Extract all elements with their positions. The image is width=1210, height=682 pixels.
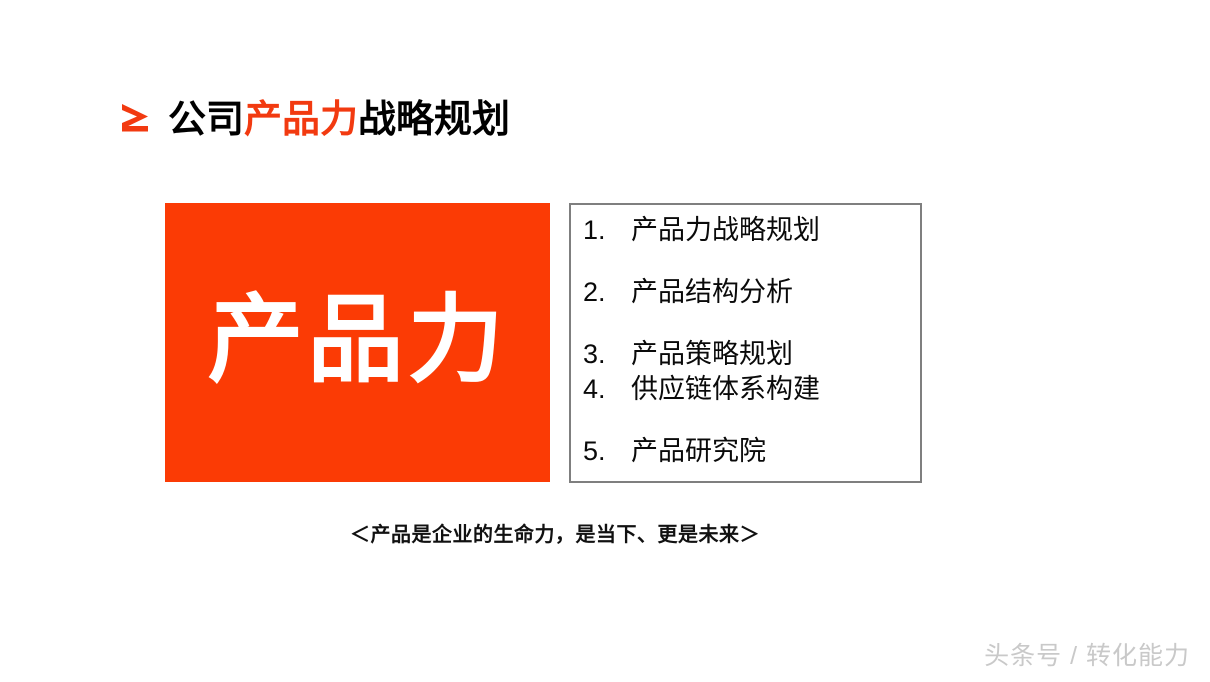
list-item-number: 1. [583,213,631,247]
presentation-slide: 公司产品力战略规划 产品力 1. 产品力战略规划 2. 产品结构分析 3. 产品… [0,0,1210,682]
watermark: 头条号 / 转化能力 [984,636,1190,672]
list-item[interactable]: 2. 产品结构分析 [583,275,914,309]
list-item-label: 供应链体系构建 [631,372,914,406]
list-item-number: 5. [583,434,631,468]
list-item[interactable]: 3. 产品策略规划 [583,337,914,371]
title-highlight: 产品力 [244,99,358,141]
list-item-number: 4. [583,372,631,406]
double-chevron-right-icon [118,99,162,141]
list-item-label: 产品结构分析 [631,275,914,309]
list-item-label: 产品策略规划 [631,337,914,371]
slide-caption: ＜产品是企业的生命力，是当下、更是未来＞ [0,518,1160,547]
list-item[interactable]: 5. 产品研究院 [583,434,914,468]
agenda-list: 1. 产品力战略规划 2. 产品结构分析 3. 产品策略规划 4. 供应链体系构… [583,213,914,468]
slide-title-text: 公司产品力战略规划 [168,99,510,141]
list-item-label: 产品研究院 [631,434,914,468]
product-power-block: 产品力 [165,203,550,482]
product-power-label: 产品力 [208,293,508,389]
title-prefix: 公司 [168,99,244,141]
list-item-label: 产品力战略规划 [631,213,914,247]
slide-title: 公司产品力战略规划 [118,96,510,144]
agenda-box: 1. 产品力战略规划 2. 产品结构分析 3. 产品策略规划 4. 供应链体系构… [569,203,922,483]
list-item-number: 2. [583,275,631,309]
list-item-number: 3. [583,337,631,371]
title-suffix: 战略规划 [358,99,510,141]
list-item[interactable]: 4. 供应链体系构建 [583,372,914,406]
list-item[interactable]: 1. 产品力战略规划 [583,213,914,247]
